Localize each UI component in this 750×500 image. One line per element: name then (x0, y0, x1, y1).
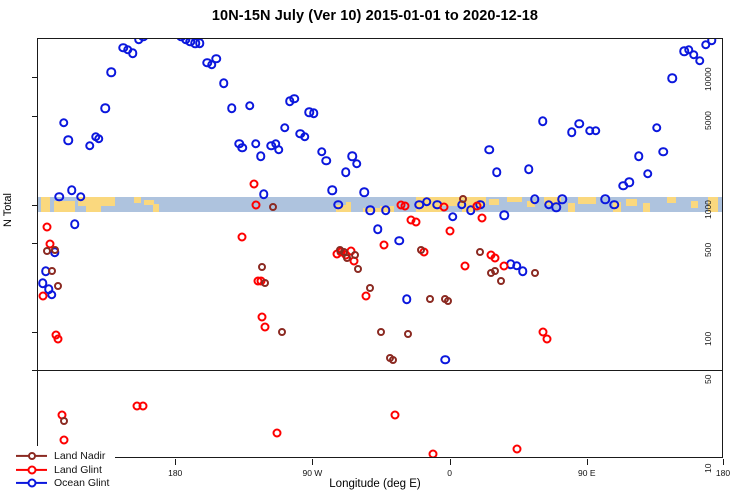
y-axis-tick (32, 116, 38, 117)
data-point (428, 449, 437, 457)
data-point (366, 206, 376, 216)
data-point (317, 147, 327, 157)
data-point (460, 261, 469, 270)
data-point (473, 201, 482, 210)
map-landmass (54, 201, 75, 212)
x-axis-tick (450, 459, 451, 465)
data-point (138, 39, 148, 41)
data-point (67, 185, 77, 195)
data-point (289, 94, 299, 104)
legend-label: Land Nadir (47, 450, 105, 462)
data-point (219, 78, 229, 88)
data-point (440, 355, 450, 365)
data-point (38, 292, 47, 301)
data-point (625, 177, 635, 187)
data-point (552, 203, 562, 213)
data-point (327, 185, 337, 195)
data-point (524, 164, 534, 174)
gridline-y (38, 370, 722, 371)
data-point (448, 212, 458, 222)
x-axis-tick (175, 459, 176, 465)
data-point (422, 197, 432, 207)
data-point (476, 248, 484, 256)
y-axis-tick-label: 50 (703, 356, 713, 384)
data-point (258, 263, 266, 271)
data-point (444, 297, 452, 305)
data-point (439, 202, 448, 211)
data-point (401, 201, 410, 210)
x-axis-tick-label: 90 E (578, 468, 596, 478)
data-point (238, 232, 247, 241)
map-landmass (346, 202, 351, 212)
plot-clip (38, 39, 722, 457)
data-point (667, 74, 677, 84)
map-landmass (626, 199, 637, 206)
data-point (259, 190, 269, 200)
data-point (531, 269, 539, 277)
data-point (250, 180, 259, 189)
legend-item: Land Nadir (16, 450, 109, 464)
map-landmass (86, 205, 101, 212)
data-point (643, 169, 653, 179)
data-point (459, 195, 467, 203)
data-point (251, 139, 261, 149)
data-point (417, 246, 425, 254)
legend-item: Ocean Glint (16, 477, 109, 491)
data-point (658, 147, 668, 157)
map-landmass (489, 199, 499, 205)
data-point (366, 284, 374, 292)
data-point (60, 417, 68, 425)
data-point (269, 203, 277, 211)
data-point (352, 159, 362, 169)
data-point (574, 119, 584, 129)
data-point (707, 39, 717, 45)
legend: Land NadirLand GlintOcean Glint (12, 446, 115, 495)
data-point (567, 127, 577, 137)
legend-marker (16, 463, 47, 477)
plot-area: 10501005001000500010000 90 E18090 W090 E… (37, 38, 723, 458)
map-landmass (153, 204, 159, 212)
data-point (261, 322, 270, 331)
data-point (497, 277, 505, 285)
data-point (518, 266, 528, 276)
data-point (274, 145, 284, 155)
data-point (64, 136, 74, 146)
data-point (402, 295, 412, 305)
map-landmass (643, 203, 650, 212)
map-landmass (134, 197, 141, 203)
y-axis-title: N Total (2, 0, 14, 420)
data-point (278, 328, 286, 336)
map-landmass (578, 197, 596, 204)
data-point (491, 253, 500, 262)
data-point (492, 167, 502, 177)
legend-label: Land Glint (47, 464, 102, 476)
data-point (55, 192, 65, 202)
data-point (530, 195, 540, 205)
data-point (341, 167, 351, 177)
map-landmass (568, 203, 575, 212)
data-point (261, 279, 269, 287)
data-point (251, 200, 260, 209)
y-axis-tick-label: 100 (703, 318, 713, 346)
legend-label: Ocean Glint (47, 477, 109, 489)
data-point (76, 192, 86, 202)
data-point (273, 429, 282, 438)
data-point (491, 267, 499, 275)
data-point (389, 356, 397, 364)
data-point (59, 118, 69, 128)
chart-figure: 10N-15N July (Ver 10) 2015-01-01 to 2020… (0, 0, 750, 500)
data-point (351, 251, 359, 259)
x-axis-tick-label: 180 (716, 468, 730, 478)
data-point (591, 126, 601, 136)
data-point (600, 195, 610, 205)
data-point (609, 200, 619, 210)
x-axis-tick (312, 459, 313, 465)
data-point (54, 282, 62, 290)
data-point (445, 226, 454, 235)
y-axis-tick (32, 370, 38, 371)
x-axis-tick-label: 90 W (302, 468, 322, 478)
data-point (256, 151, 266, 161)
data-point (359, 187, 369, 197)
x-axis-tick-label: 180 (168, 468, 182, 478)
data-point (128, 48, 138, 58)
chart-title: 10N-15N July (Ver 10) 2015-01-01 to 2020… (0, 8, 750, 24)
map-landmass (691, 201, 698, 208)
data-point (321, 156, 331, 166)
data-point (43, 223, 52, 232)
data-point (380, 241, 389, 250)
data-point (212, 54, 222, 64)
data-point (245, 101, 255, 111)
y-axis-tick-label: 10000 (703, 63, 713, 91)
legend-item: Land Glint (16, 463, 109, 477)
map-landmass (667, 197, 676, 203)
data-point (500, 261, 509, 270)
y-axis-tick (32, 205, 38, 206)
x-axis-tick (587, 459, 588, 465)
data-point (558, 195, 568, 205)
y-axis-tick (32, 77, 38, 78)
data-point (377, 328, 385, 336)
data-point (543, 334, 552, 343)
data-point (412, 217, 421, 226)
data-point (238, 143, 248, 153)
data-point (195, 39, 205, 48)
y-axis-tick (32, 243, 38, 244)
y-axis-tick (32, 332, 38, 333)
data-point (634, 151, 644, 161)
data-point (300, 132, 310, 142)
data-point (309, 109, 319, 119)
data-point (106, 67, 116, 77)
y-axis-tick-label: 10 (703, 445, 713, 473)
data-point (373, 224, 383, 234)
data-point (361, 292, 370, 301)
map-landmass (507, 197, 522, 202)
data-point (477, 214, 486, 223)
y-axis-tick-label: 1000 (703, 191, 713, 219)
data-point (426, 295, 434, 303)
data-point (280, 123, 290, 133)
data-point (512, 444, 521, 453)
data-point (85, 141, 95, 151)
data-point (94, 134, 104, 144)
data-point (354, 265, 362, 273)
data-point (48, 267, 56, 275)
x-axis-tick-label: 0 (447, 468, 452, 478)
data-point (47, 290, 57, 300)
data-point (70, 219, 80, 229)
map-landmass (41, 197, 49, 212)
data-point (395, 236, 405, 246)
data-point (100, 104, 110, 114)
data-point (53, 334, 62, 343)
data-point (139, 402, 148, 411)
data-point (227, 104, 237, 114)
data-point (652, 123, 662, 133)
legend-marker (16, 477, 47, 491)
data-point (500, 211, 510, 221)
data-point (538, 117, 548, 127)
y-axis-title-text: N Total (2, 193, 14, 227)
data-point (59, 436, 68, 445)
data-point (390, 411, 399, 420)
legend-marker (16, 450, 47, 464)
data-point (381, 206, 391, 216)
y-axis-tick-label: 500 (703, 229, 713, 257)
x-axis-tick (723, 459, 724, 465)
y-axis-tick-label: 5000 (703, 102, 713, 130)
data-point (404, 330, 412, 338)
data-point (258, 313, 267, 322)
data-point (334, 200, 344, 210)
data-point (484, 145, 494, 155)
data-point (51, 246, 59, 254)
